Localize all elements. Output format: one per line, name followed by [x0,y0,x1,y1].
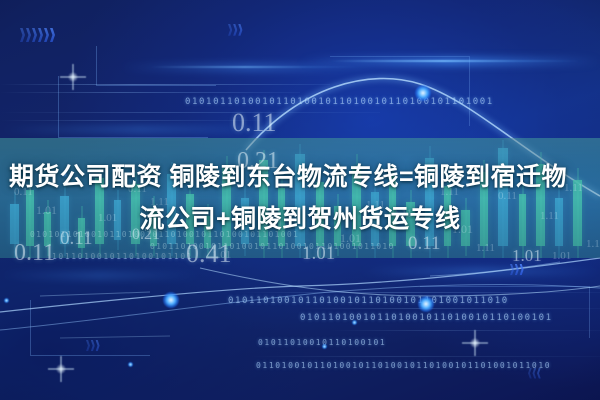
glow-streak [360,268,600,275]
chevron-bar [510,264,514,275]
scan-line [0,120,260,121]
binary-stream: 0101011010010110100101101001011010010110… [185,97,494,107]
binary-stream: 0101101001011010010110100101101001011010 [228,296,509,306]
headline-line-1: 期货公司配资 铜陵到东台物流专线=铜陵到宿迁物 [0,156,600,198]
chevron-bar [520,264,524,275]
sparkle-icon [462,330,488,356]
chevron-bar [533,368,537,379]
light-streak [150,66,360,68]
chevron-bar [26,28,31,42]
glow-streak [0,272,200,279]
headline-line-2: 流公司+铜陵到贺州货运专线 [0,198,600,240]
binary-stream: 010110100101101001011010010110100101 [300,313,553,323]
chevron-bar [38,28,43,42]
chevron-bar [238,24,242,36]
chevron-bar [50,28,55,42]
chevron-arrow-icon [510,264,524,275]
glow-node [415,85,431,101]
glow-node [128,362,133,367]
chevron-bar [20,28,25,42]
binary-stream: 01011010010110100101 [258,338,386,347]
chevron-bar [32,28,37,42]
glow-node [352,320,357,325]
chevron-bar [233,24,237,36]
scan-line [0,92,300,93]
chevron-bar [537,368,541,379]
glow-streak [300,58,600,65]
glow-node [4,298,9,303]
chevron-bar [528,368,532,379]
chevron-arrow-icon [228,24,242,36]
chevron-arrow-icon [20,28,55,42]
headline-block: 期货公司配资 铜陵到东台物流专线=铜陵到宿迁物 流公司+铜陵到贺州货运专线 [0,156,600,240]
glow-streak [120,64,380,71]
glow-streak [0,126,280,133]
circuit-trace [58,76,208,138]
glow-node [322,344,327,349]
scan-line [0,84,330,85]
chevron-bar [86,340,90,351]
scan-line [330,330,600,331]
circuit-trace [330,56,470,126]
chevron-arrow-icon [528,368,541,379]
chevron-bar [96,340,100,351]
chevron-bar [44,28,49,42]
scan-line [240,292,600,293]
scan-line [300,308,600,309]
thumbnail-canvas: 0101011010010110100101101001011010010110… [0,0,600,400]
circuit-trace [420,286,590,338]
chevron-bar [228,24,232,36]
sparkle-icon [60,64,86,90]
glow-node [418,296,434,312]
circuit-trace [30,300,150,356]
chevron-bar [91,340,95,351]
glow-node [163,292,179,308]
light-streak [330,60,580,62]
circuit-trace [96,46,216,86]
scan-line [250,356,600,357]
binary-stream: 0110100101101001011010010110100101101001… [256,361,551,370]
chevron-bar [515,264,519,275]
scan-line [0,112,380,113]
sparkle-icon [48,356,74,382]
chevron-arrow-icon [86,340,100,351]
ghost-number: 0.11 [232,108,277,138]
